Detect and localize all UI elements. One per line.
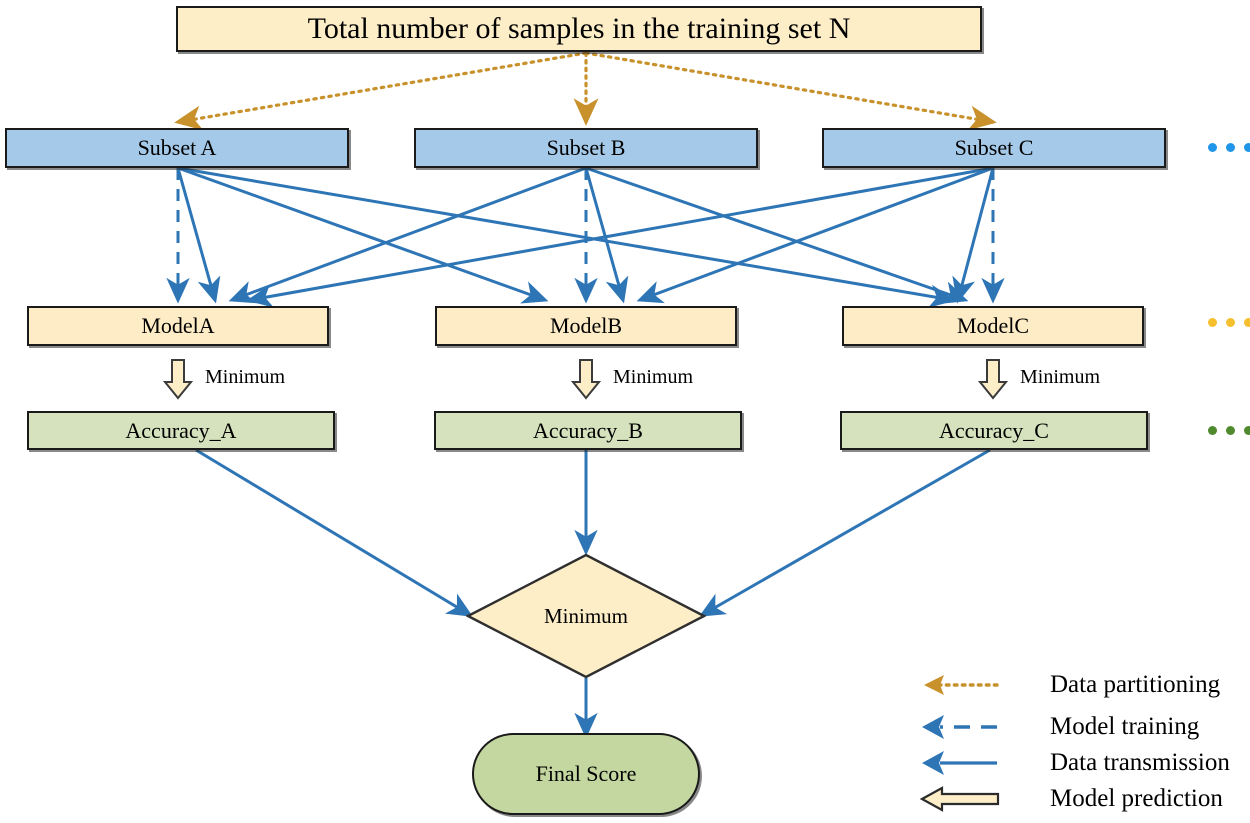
legend-label-model-training: Model training	[1036, 713, 1199, 741]
node-accuracy-a-label: Accuracy_A	[125, 419, 236, 442]
edge-subset-c-to-model-c2	[958, 168, 993, 300]
node-model-a[interactable]: ModelA	[27, 306, 329, 346]
edge-subset-a-to-model-a2	[178, 168, 215, 300]
ellipsis-subsets-row	[1208, 143, 1250, 152]
node-model-c[interactable]: ModelC	[842, 306, 1144, 346]
node-accuracy-c[interactable]: Accuracy_C	[840, 411, 1148, 450]
minimum-label-b: Minimum	[613, 366, 693, 389]
edge-subset-c-to-model-a	[250, 168, 993, 300]
edge-subset-b-to-model-c	[586, 168, 965, 300]
ellipsis-dot	[1208, 143, 1217, 152]
edge-title-to-subset-a	[178, 53, 586, 122]
node-subset-c-label: Subset C	[955, 136, 1034, 159]
node-subset-c[interactable]: Subset C	[822, 128, 1166, 168]
node-final-score[interactable]: Final Score	[472, 733, 700, 815]
node-accuracy-b[interactable]: Accuracy_B	[434, 411, 742, 450]
edge-subset-a-to-model-b	[178, 168, 545, 300]
node-subset-b-label: Subset B	[547, 136, 626, 159]
partition-edges	[178, 53, 993, 122]
node-decision-minimum[interactable]: Minimum	[466, 553, 706, 679]
legend-item-model-prediction[interactable]: Model prediction	[918, 784, 1223, 814]
training-edges	[178, 168, 993, 300]
node-accuracy-c-label: Accuracy_C	[939, 419, 1049, 442]
legend: Data partitioning Model training Data tr…	[918, 668, 1248, 818]
arrow-left-dotted-icon	[918, 670, 1036, 700]
node-total-samples[interactable]: Total number of samples in the training …	[176, 6, 982, 52]
ellipsis-models-row	[1208, 318, 1250, 327]
ellipsis-accuracies-row	[1208, 426, 1250, 435]
edge-subset-c-to-model-b	[640, 168, 993, 300]
node-model-a-label: ModelA	[141, 314, 214, 337]
legend-item-data-partitioning[interactable]: Data partitioning	[918, 670, 1220, 700]
node-model-b[interactable]: ModelB	[435, 306, 737, 346]
edge-title-to-subset-c	[586, 53, 993, 122]
node-subset-b[interactable]: Subset B	[414, 128, 758, 168]
edge-accuracy-a-to-decision	[196, 450, 470, 615]
block-arrow-left-icon	[918, 784, 1036, 814]
legend-label-model-prediction: Model prediction	[1036, 785, 1223, 813]
legend-item-data-transmission[interactable]: Data transmission	[918, 748, 1230, 778]
node-subset-a-label: Subset A	[138, 136, 217, 159]
legend-item-model-training[interactable]: Model training	[918, 712, 1199, 742]
ellipsis-dot	[1226, 143, 1235, 152]
node-model-c-label: ModelC	[957, 314, 1029, 337]
node-model-b-label: ModelB	[550, 314, 622, 337]
ellipsis-dot	[1208, 318, 1217, 327]
node-final-score-label: Final Score	[536, 762, 637, 785]
node-subset-a[interactable]: Subset A	[5, 128, 349, 168]
ellipsis-dot	[1244, 426, 1250, 435]
node-total-samples-label: Total number of samples in the training …	[308, 13, 851, 45]
node-accuracy-b-label: Accuracy_B	[533, 419, 643, 442]
edge-subset-a-to-model-c	[178, 168, 952, 300]
ellipsis-dot	[1226, 318, 1235, 327]
edge-subset-b-to-model-b2	[586, 168, 623, 300]
prediction-block-arrows	[165, 360, 1006, 398]
minimum-label-a: Minimum	[205, 366, 285, 389]
minimum-label-c: Minimum	[1020, 366, 1100, 389]
ellipsis-dot	[1244, 318, 1250, 327]
arrow-left-dashed-icon	[918, 712, 1036, 742]
block-arrow-model-c	[980, 360, 1006, 398]
legend-label-data-transmission: Data transmission	[1036, 749, 1230, 777]
ellipsis-dot	[1244, 143, 1250, 152]
edge-accuracy-c-to-decision	[702, 450, 990, 615]
node-accuracy-a[interactable]: Accuracy_A	[27, 411, 335, 450]
ellipsis-dot	[1226, 426, 1235, 435]
diamond-shape	[466, 553, 706, 679]
block-arrow-model-b	[573, 360, 599, 398]
edge-subset-b-to-model-a	[232, 168, 586, 300]
arrow-left-solid-icon	[918, 748, 1036, 778]
ellipsis-dot	[1208, 426, 1217, 435]
flowchart-canvas: Total number of samples in the training …	[0, 0, 1250, 823]
legend-label-data-partitioning: Data partitioning	[1036, 671, 1220, 699]
block-arrow-model-a	[165, 360, 191, 398]
